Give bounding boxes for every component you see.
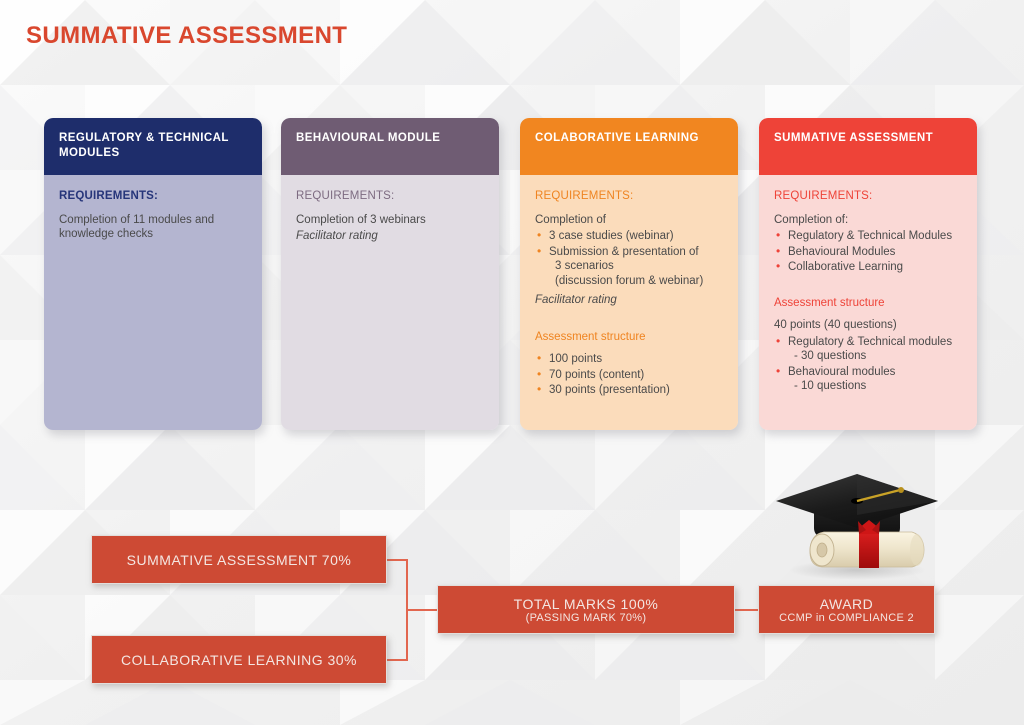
spacer [535, 310, 723, 320]
card-header-regulatory: REGULATORY & TECHNICAL MODULES [44, 118, 262, 175]
bullet-text: Regulatory & Technical Modules [788, 230, 952, 242]
card-summative-assessment: SUMMATIVE ASSESSMENT REQUIREMENTS: Compl… [759, 118, 977, 430]
card-header-collaborative: COLABORATIVE LEARNING [520, 118, 738, 175]
bullet-text: 30 points (presentation) [549, 384, 670, 396]
assessment-structure-title-summative: Assessment structure [774, 296, 962, 311]
bullet-text: Submission & presentation of [549, 246, 699, 258]
flow-box-collaborative-learning-weight: COLLABORATIVE LEARNING 30% [91, 635, 387, 684]
card-italic-behavioural-1: Facilitator rating [296, 229, 484, 244]
bullet-subtext: - 10 questions [788, 379, 962, 394]
bullet-subtext: - 30 questions [788, 349, 962, 364]
card-body-behavioural: REQUIREMENTS: Completion of 3 webinars F… [281, 175, 499, 430]
card-body-collaborative: REQUIREMENTS: Completion of 3 case studi… [520, 175, 738, 430]
requirements-bullets-collaborative: 3 case studies (webinar) Submission & pr… [535, 229, 723, 288]
card-header-summative: SUMMATIVE ASSESSMENT [759, 118, 977, 175]
card-line-regulatory-1: Completion of 11 modules and knowledge c… [59, 213, 247, 242]
card-regulatory-technical-modules: REGULATORY & TECHNICAL MODULES REQUIREME… [44, 118, 262, 430]
requirements-bullets-summative: Regulatory & Technical Modules Behaviour… [774, 229, 962, 275]
graduation-cap-icon [762, 468, 952, 588]
connector-line-to-award [733, 609, 760, 611]
assessment-structure-title-collaborative: Assessment structure [535, 330, 723, 345]
flow-box-summative-assessment-weight: SUMMATIVE ASSESSMENT 70% [91, 535, 387, 584]
list-item: 70 points (content) [535, 368, 723, 383]
requirements-label-summative: REQUIREMENTS: [774, 189, 962, 204]
card-behavioural-module: BEHAVIOURAL MODULE REQUIREMENTS: Complet… [281, 118, 499, 430]
list-item: Regulatory & Technical Modules [774, 229, 962, 244]
bullet-text: Behavioural Modules [788, 246, 895, 258]
flow-box-total-marks: TOTAL MARKS 100% (PASSING MARK 70%) [437, 585, 735, 634]
flow-box-label: AWARD [820, 596, 874, 612]
bullet-text: 100 points [549, 353, 602, 365]
bullet-text: 3 case studies (webinar) [549, 230, 674, 242]
card-collaborative-learning: COLABORATIVE LEARNING REQUIREMENTS: Comp… [520, 118, 738, 430]
flow-box-label: SUMMATIVE ASSESSMENT 70% [127, 552, 352, 568]
card-line-collaborative-1: Completion of [535, 213, 723, 228]
assessment-bullets-summative: Regulatory & Technical modules - 30 ques… [774, 335, 962, 394]
list-item: 30 points (presentation) [535, 383, 723, 398]
card-italic-collaborative-1: Facilitator rating [535, 293, 723, 308]
list-item: 3 case studies (webinar) [535, 229, 723, 244]
list-item: 100 points [535, 352, 723, 367]
bullet-text: Regulatory & Technical modules [788, 336, 952, 348]
requirements-label-behavioural: REQUIREMENTS: [296, 189, 484, 204]
bullet-text: 70 points (content) [549, 369, 644, 381]
bullet-text: Behavioural modules [788, 366, 895, 378]
flow-box-award: AWARD CCMP in COMPLIANCE 2 [758, 585, 935, 634]
flow-box-sublabel: (PASSING MARK 70%) [526, 612, 647, 624]
flow-box-sublabel: CCMP in COMPLIANCE 2 [779, 612, 914, 624]
connector-line-bottom [387, 659, 408, 661]
assessment-bullets-collaborative: 100 points 70 points (content) 30 points… [535, 352, 723, 398]
list-item: Collaborative Learning [774, 260, 962, 275]
page-title: SUMMATIVE ASSESSMENT [26, 22, 347, 50]
requirements-label-regulatory: REQUIREMENTS: [59, 189, 247, 204]
bullet-subtext: 3 scenarios [549, 259, 723, 274]
card-body-regulatory: REQUIREMENTS: Completion of 11 modules a… [44, 175, 262, 430]
card-line-behavioural-1: Completion of 3 webinars [296, 213, 484, 228]
card-body-summative: REQUIREMENTS: Completion of: Regulatory … [759, 175, 977, 430]
bullet-subtext: (discussion forum & webinar) [549, 274, 723, 289]
card-line-summative-1: Completion of: [774, 213, 962, 228]
flow-box-label: TOTAL MARKS 100% [514, 596, 659, 612]
list-item: Regulatory & Technical modules - 30 ques… [774, 335, 962, 364]
connector-line-top [387, 559, 408, 561]
list-item: Behavioural modules - 10 questions [774, 365, 962, 394]
spacer [774, 276, 962, 286]
list-item: Submission & presentation of 3 scenarios… [535, 245, 723, 289]
bullet-text: Collaborative Learning [788, 261, 903, 273]
connector-line-to-total [406, 609, 439, 611]
card-header-behavioural: BEHAVIOURAL MODULE [281, 118, 499, 175]
assessment-intro-summative: 40 points (40 questions) [774, 318, 962, 333]
list-item: Behavioural Modules [774, 245, 962, 260]
flow-box-label: COLLABORATIVE LEARNING 30% [121, 652, 357, 668]
requirements-label-collaborative: REQUIREMENTS: [535, 189, 723, 204]
